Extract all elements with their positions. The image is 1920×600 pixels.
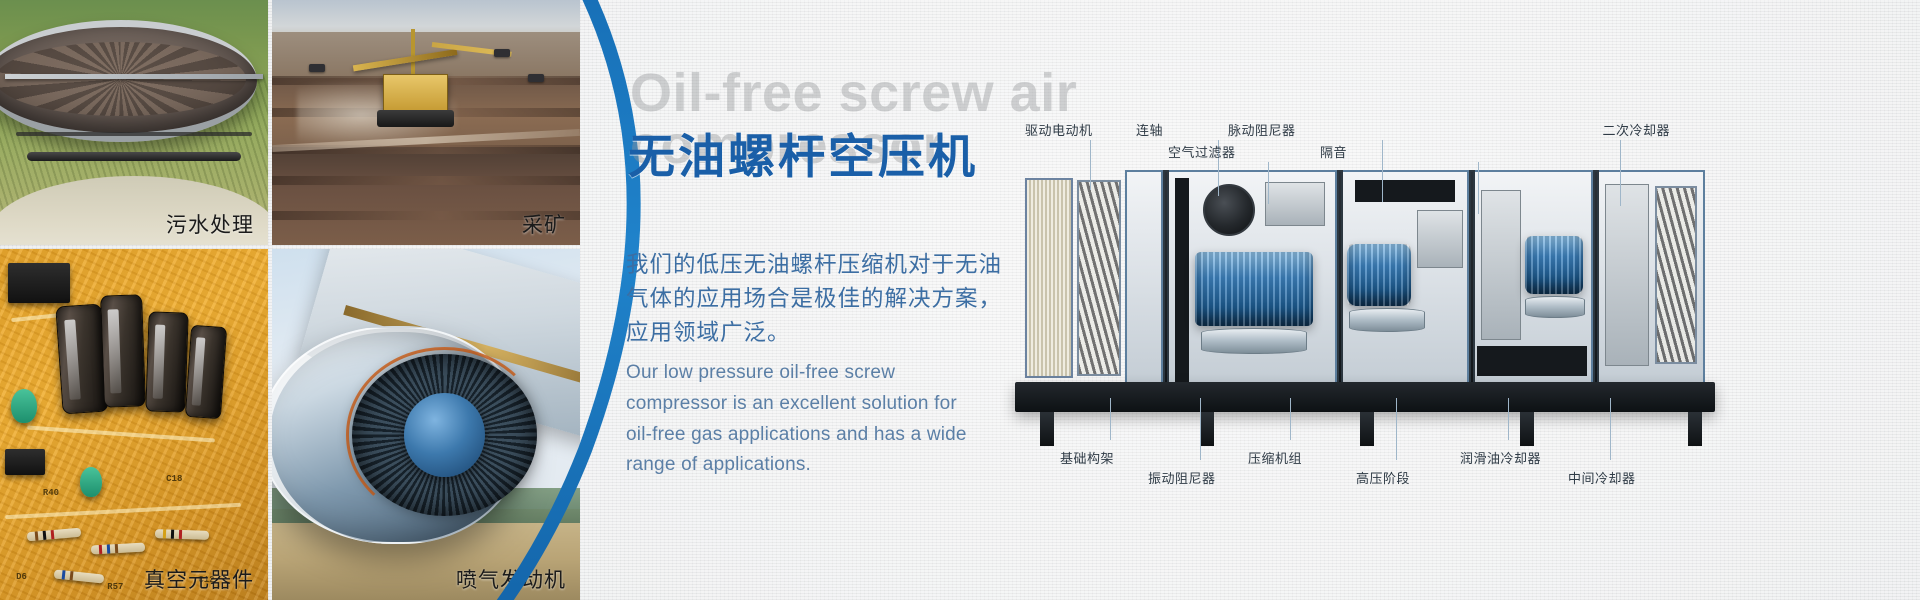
- label-lube-oil-cooler: 润滑油冷却器: [1460, 448, 1541, 467]
- label-intercooler: 中间冷却器: [1568, 468, 1636, 487]
- hero-banner: 污水处理 采矿: [0, 0, 1920, 600]
- leader-line-lube-oil-cooler: [1508, 398, 1509, 440]
- photo-caption-jet: 喷气发动机: [456, 564, 566, 594]
- label-vibration-damper: 振动阻尼器: [1148, 468, 1216, 487]
- photo-caption-wastewater: 污水处理: [166, 209, 254, 239]
- leader-line-pulsation-damper: [1382, 140, 1383, 202]
- label-compressor-unit: 压缩机组: [1248, 448, 1302, 467]
- photo-wastewater-treatment: 污水处理: [0, 0, 268, 245]
- leader-line-sound-insulation: [1478, 162, 1479, 214]
- leader-line-high-pressure-stage: [1396, 398, 1397, 460]
- compressor-diagram: 驱动电动机 连轴 空气过滤器 脉动阻尼器 隔音 二次冷却器 基础构架 振动阻尼器…: [1000, 0, 1920, 600]
- photo-vacuum-components: R40 C18 D6 R57 C12 真空元器件: [0, 249, 268, 600]
- photo-jet-engine: 喷气发动机: [272, 249, 580, 600]
- photo-collage: 污水处理 采矿: [0, 0, 580, 600]
- label-drive-motor: 驱动电动机: [1025, 120, 1093, 139]
- leader-line-air-filter: [1268, 162, 1269, 204]
- photo-mining: 采矿: [272, 0, 580, 245]
- label-aftercooler: 二次冷却器: [1602, 120, 1670, 139]
- photo-caption-mining: 采矿: [522, 209, 566, 239]
- leader-line-compressor-unit: [1290, 398, 1291, 440]
- label-sound-insulation: 隔音: [1320, 142, 1347, 161]
- label-coupling: 连轴: [1136, 120, 1163, 139]
- label-base-frame: 基础构架: [1060, 448, 1114, 467]
- photo-caption-vacuum: 真空元器件: [144, 564, 254, 594]
- leader-line-base-frame: [1110, 398, 1111, 440]
- compressor-skid: [1025, 170, 1705, 390]
- label-high-pressure-stage: 高压阶段: [1356, 468, 1410, 487]
- leader-line-vibration-damper: [1200, 398, 1201, 460]
- leader-line-drive-motor: [1090, 140, 1091, 190]
- description-chinese: 我们的低压无油螺杆压缩机对于无油气体的应用场合是极佳的解决方案，应用领域广泛。: [626, 248, 1012, 351]
- page-title: 无油螺杆空压机: [628, 118, 978, 187]
- label-air-filter: 空气过滤器: [1168, 142, 1236, 161]
- description-english: Our low pressure oil-free screw compress…: [626, 358, 986, 481]
- leader-line-aftercooler: [1620, 140, 1621, 206]
- leader-line-intercooler: [1610, 398, 1611, 460]
- label-pulsation-damper: 脉动阻尼器: [1228, 120, 1296, 139]
